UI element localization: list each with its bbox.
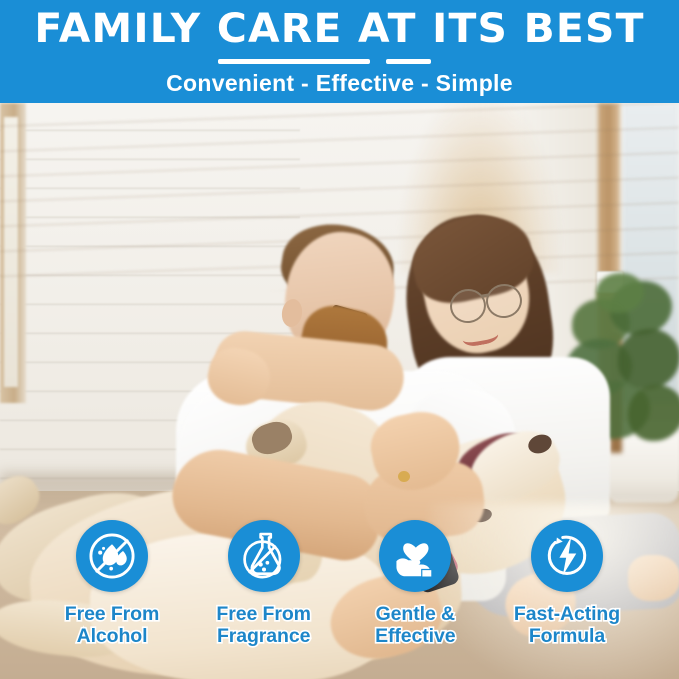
- badge-icon-wrapper: [531, 520, 603, 592]
- heart-in-hand-icon: [388, 529, 442, 583]
- plant-leaf: [618, 329, 679, 389]
- underline-segment-long: [218, 59, 370, 64]
- no-fragrance-flask-icon: [237, 529, 291, 583]
- no-alcohol-icon: [85, 529, 139, 583]
- badge-icon-wrapper: [228, 520, 300, 592]
- lightning-bolt-refresh-icon: [540, 529, 594, 583]
- badge-gentle-effective[interactable]: Gentle & Effective: [345, 520, 485, 679]
- page-title: FAMILY CARE AT ITS BEST: [0, 6, 679, 52]
- underline-segment-short: [386, 59, 431, 64]
- badge-label: Free From Alcohol: [65, 603, 159, 647]
- badge-label: Fast-Acting Formula: [514, 603, 620, 647]
- feature-badges: Free From Alcohol Free From Fragrance: [0, 520, 679, 679]
- header-banner: FAMILY CARE AT ITS BEST Convenient - Eff…: [0, 0, 679, 103]
- badge-free-from-alcohol[interactable]: Free From Alcohol: [42, 520, 182, 679]
- badge-icon-wrapper: [76, 520, 148, 592]
- badge-label: Gentle & Effective: [375, 603, 455, 647]
- page-subtitle: Convenient - Effective - Simple: [0, 69, 679, 97]
- title-underline: [0, 58, 679, 66]
- badge-fast-acting-formula[interactable]: Fast-Acting Formula: [497, 520, 637, 679]
- product-infographic: FAMILY CARE AT ITS BEST Convenient - Eff…: [0, 0, 679, 679]
- badge-free-from-fragrance[interactable]: Free From Fragrance: [194, 520, 334, 679]
- plant-leaf: [628, 385, 679, 441]
- wedding-ring: [398, 471, 410, 482]
- badge-icon-wrapper: [379, 520, 451, 592]
- badge-label: Free From Fragrance: [216, 603, 310, 647]
